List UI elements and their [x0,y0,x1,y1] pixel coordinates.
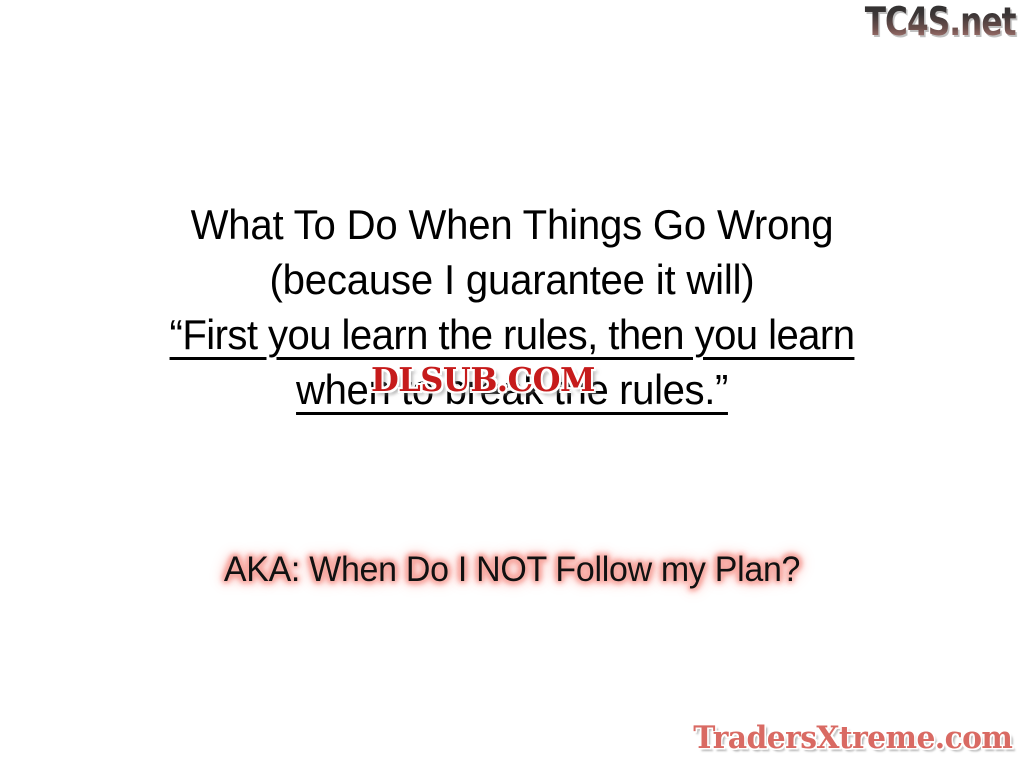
subheadline-aka: AKA: When Do I NOT Follow my Plan? [15,548,1008,592]
tradersxtreme-watermark: TradersXtreme.com [693,720,1012,756]
tc4s-watermark: TC4S.net [865,1,1016,45]
headline-line-1: What To Do When Things Go Wrong [23,197,1001,252]
dlsub-watermark: DLSUB.COM [371,361,595,399]
headline-line-2: (because I guarantee it will) [23,252,1001,307]
slide-canvas: TC4S.net What To Do When Things Go Wrong… [0,0,1024,768]
quote-line-1: “First you learn the rules, then you lea… [23,307,1001,362]
